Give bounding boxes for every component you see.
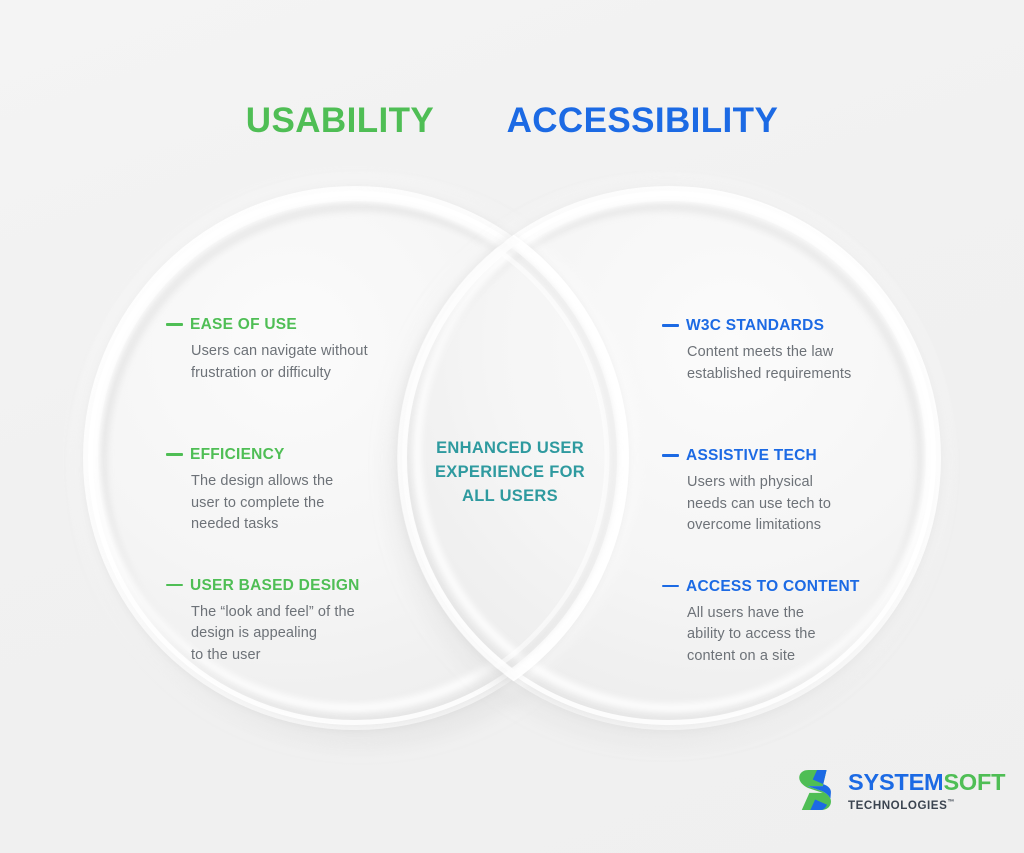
intersection-line: EXPERIENCE FOR — [412, 460, 608, 484]
dash-icon — [662, 585, 679, 588]
item-body-line: needs can use tech to — [687, 494, 914, 516]
item-body-line: content on a site — [687, 646, 914, 668]
item-body-line: user to complete the — [191, 493, 412, 515]
intersection-label: ENHANCED USER EXPERIENCE FOR ALL USERS — [412, 436, 608, 508]
item-body-line: ability to access the — [687, 624, 914, 646]
item-body-line: design is appealing — [191, 623, 412, 645]
item-heading-label: EASE OF USE — [190, 316, 297, 333]
item-body-line: The “look and feel” of the — [191, 602, 412, 624]
item-heading-label: ASSISTIVE TECH — [686, 447, 817, 464]
item-body-line: Content meets the law — [687, 342, 914, 364]
item-body-line: overcome limitations — [687, 515, 914, 537]
item-body-line: established requirements — [687, 364, 914, 386]
item-heading-label: ACCESS TO CONTENT — [686, 578, 860, 595]
item-body: Content meets the law established requir… — [687, 342, 914, 385]
trademark-icon: ™ — [947, 799, 955, 806]
dash-icon — [166, 584, 183, 587]
item-heading: ASSISTIVE TECH — [662, 447, 914, 464]
dash-icon — [166, 453, 183, 456]
item-body-line: Users can navigate without — [191, 341, 412, 363]
item-body: Users with physical needs can use tech t… — [687, 472, 914, 537]
logo-tagline: TECHNOLOGIES™ — [848, 799, 1005, 811]
item-heading-label: W3C STANDARDS — [686, 317, 824, 334]
logo-name: SYSTEMSOFT — [848, 771, 1005, 795]
item-body-line: frustration or difficulty — [191, 363, 412, 385]
infographic-canvas: USABILITY ACCESSIBILITY — [0, 0, 1024, 853]
systemsoft-bolt-icon — [797, 768, 839, 812]
logo-tagline-text: TECHNOLOGIES — [848, 798, 947, 811]
list-item: USER BASED DESIGN The “look and feel” of… — [166, 577, 412, 667]
dash-icon — [166, 323, 183, 326]
list-item: ASSISTIVE TECH Users with physical needs… — [662, 447, 914, 537]
item-heading: EASE OF USE — [166, 316, 412, 333]
list-item: EFFICIENCY The design allows the user to… — [166, 446, 412, 536]
item-heading: EFFICIENCY — [166, 446, 412, 463]
item-body: Users can navigate without frustration o… — [191, 341, 412, 384]
dash-icon — [662, 454, 679, 457]
item-body-line: Users with physical — [687, 472, 914, 494]
list-item: EASE OF USE Users can navigate without f… — [166, 316, 412, 384]
intersection-line: ALL USERS — [412, 484, 608, 508]
logo-name-second: SOFT — [943, 769, 1005, 795]
item-heading: USER BASED DESIGN — [166, 577, 412, 594]
item-body: The design allows the user to complete t… — [191, 471, 412, 536]
item-heading-label: USER BASED DESIGN — [190, 577, 360, 594]
item-heading-label: EFFICIENCY — [190, 446, 285, 463]
company-logo: SYSTEMSOFT TECHNOLOGIES™ — [797, 768, 1005, 812]
item-body: The “look and feel” of the design is app… — [191, 602, 412, 667]
item-body-line: All users have the — [687, 603, 914, 625]
logo-name-first: SYSTEM — [848, 769, 943, 795]
item-body-line: needed tasks — [191, 514, 412, 536]
list-item: W3C STANDARDS Content meets the law esta… — [662, 317, 914, 385]
usability-items: EASE OF USE Users can navigate without f… — [166, 316, 412, 666]
item-heading: W3C STANDARDS — [662, 317, 914, 334]
item-heading: ACCESS TO CONTENT — [662, 578, 914, 595]
item-body-line: to the user — [191, 645, 412, 667]
intersection-line: ENHANCED USER — [412, 436, 608, 460]
item-body-line: The design allows the — [191, 471, 412, 493]
list-item: ACCESS TO CONTENT All users have the abi… — [662, 578, 914, 668]
accessibility-items: W3C STANDARDS Content meets the law esta… — [662, 317, 914, 667]
logo-wordmark: SYSTEMSOFT TECHNOLOGIES™ — [848, 769, 1005, 811]
item-body: All users have the ability to access the… — [687, 603, 914, 668]
dash-icon — [662, 324, 679, 327]
